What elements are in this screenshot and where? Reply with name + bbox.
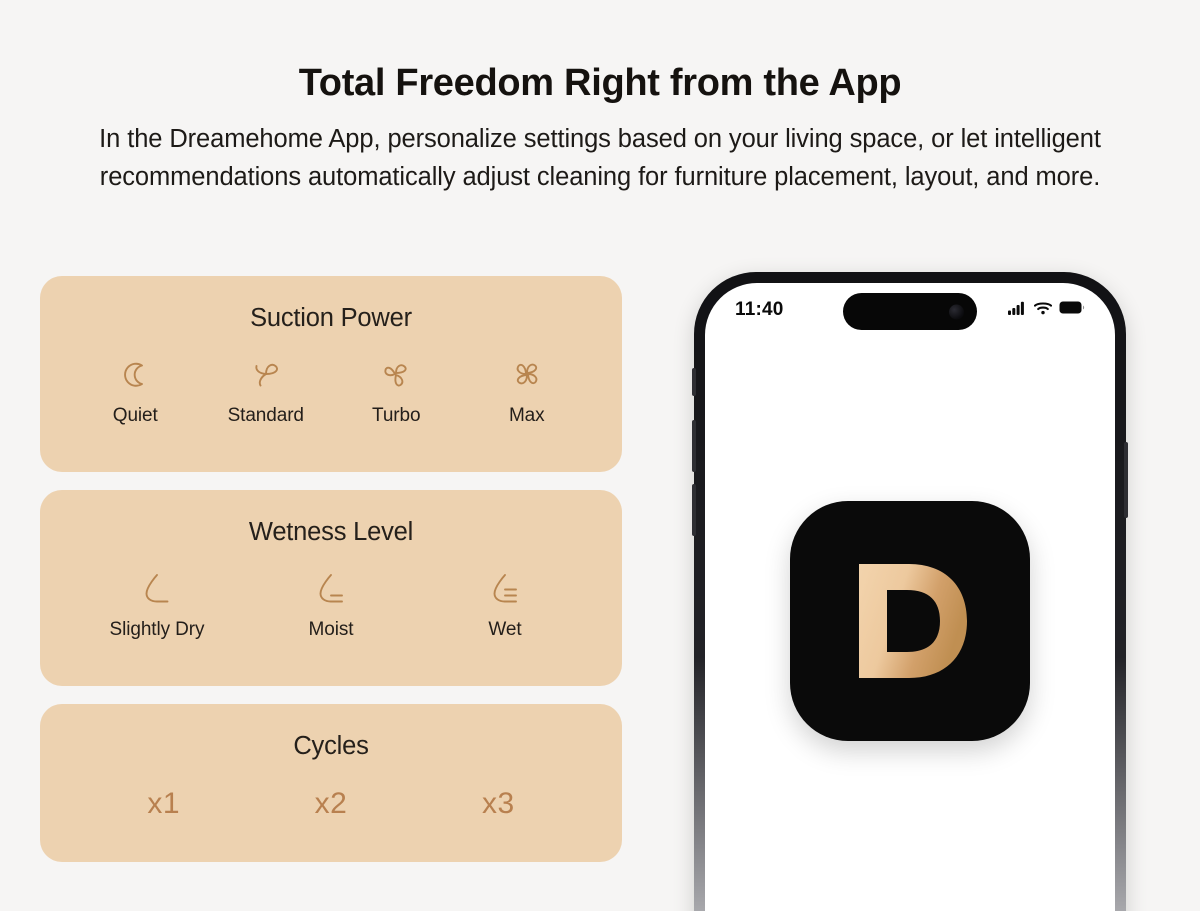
options-row-cycles: x1 x2 x3 <box>40 761 622 821</box>
phone-volume-up-button[interactable] <box>692 420 696 472</box>
phone-mockup: 11:40 <box>694 272 1126 911</box>
phone-volume-down-button[interactable] <box>692 484 696 536</box>
settings-panel: Suction Power Quiet Stan <box>40 276 622 862</box>
page-title: Total Freedom Right from the App <box>0 62 1200 106</box>
option-label-wet: Wet <box>488 619 521 641</box>
card-title-suction-power: Suction Power <box>40 276 622 333</box>
setting-card-wetness-level: Wetness Level Slightly Dry <box>40 490 622 686</box>
status-bar-time: 11:40 <box>735 299 815 321</box>
option-label-standard: Standard <box>228 405 304 427</box>
dynamic-island <box>843 293 977 330</box>
option-cycle-x3[interactable]: x3 <box>415 787 582 821</box>
status-bar: 11:40 <box>705 283 1115 337</box>
page-header: Total Freedom Right from the App In the … <box>0 62 1200 196</box>
option-cycle-x2[interactable]: x2 <box>247 787 414 821</box>
option-moist[interactable]: Moist <box>244 565 418 641</box>
fan-three-blade-icon <box>377 351 415 397</box>
phone-screen: 11:40 <box>705 283 1115 911</box>
card-title-cycles: Cycles <box>40 704 622 761</box>
option-wet[interactable]: Wet <box>418 565 592 641</box>
setting-card-suction-power: Suction Power Quiet Stan <box>40 276 622 472</box>
option-max[interactable]: Max <box>462 351 593 427</box>
setting-card-cycles: Cycles x1 x2 x3 <box>40 704 622 862</box>
options-row-suction-power: Quiet Standard <box>40 333 622 427</box>
dreamehome-app-logo[interactable] <box>790 501 1030 741</box>
fan-one-blade-icon <box>247 351 285 397</box>
battery-full-icon <box>1059 301 1085 319</box>
option-turbo[interactable]: Turbo <box>331 351 462 427</box>
option-cycle-x1[interactable]: x1 <box>80 787 247 821</box>
cellular-signal-icon <box>1008 301 1027 320</box>
water-drop-one-line-icon <box>138 565 176 611</box>
phone-power-button[interactable] <box>1124 442 1128 518</box>
water-drop-three-line-icon <box>486 565 524 611</box>
page-subtitle: In the Dreamehome App, personalize setti… <box>0 120 1200 197</box>
wifi-icon <box>1034 301 1052 320</box>
option-label-slightly-dry: Slightly Dry <box>110 619 205 641</box>
option-label-max: Max <box>509 405 545 427</box>
option-label-turbo: Turbo <box>372 405 420 427</box>
option-standard[interactable]: Standard <box>201 351 332 427</box>
card-title-wetness-level: Wetness Level <box>40 490 622 547</box>
fan-four-blade-icon <box>508 351 546 397</box>
option-slightly-dry[interactable]: Slightly Dry <box>70 565 244 641</box>
option-label-quiet: Quiet <box>113 405 158 427</box>
moon-crescent-icon <box>116 351 154 397</box>
phone-silent-switch[interactable] <box>692 368 696 396</box>
phone-frame: 11:40 <box>694 272 1126 911</box>
options-row-wetness-level: Slightly Dry Moist <box>40 547 622 641</box>
status-bar-indicators <box>1008 301 1085 320</box>
front-camera-icon <box>949 304 964 319</box>
option-quiet[interactable]: Quiet <box>70 351 201 427</box>
water-drop-two-line-icon <box>312 565 350 611</box>
app-logo-letter-d <box>835 546 985 696</box>
option-label-moist: Moist <box>309 619 354 641</box>
